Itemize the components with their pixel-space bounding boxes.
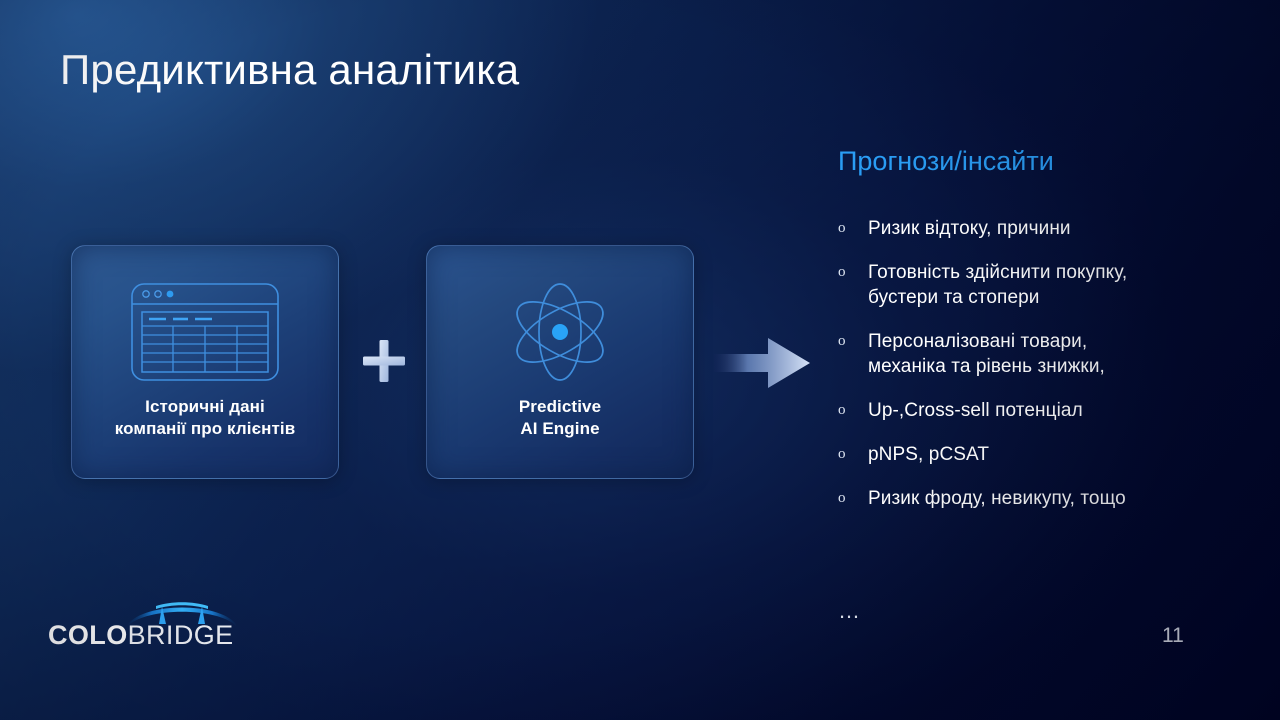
list-item: o Ризик фроду, невикупу, тощо	[838, 486, 1213, 511]
list-item: o Персоналізовані товари, механіка та рі…	[838, 329, 1213, 379]
card-predictive-ai-engine-caption: Predictive AI Engine	[509, 396, 611, 440]
list-item-text: Персоналізовані товари, механіка та ріве…	[868, 329, 1213, 379]
atom-icon	[501, 280, 619, 384]
page-title: Предиктивна аналітика	[60, 46, 519, 94]
card-predictive-ai-engine: Predictive AI Engine	[426, 245, 694, 479]
list-item-text: pNPS, pCSAT	[868, 442, 1213, 467]
list-item: o Up-,Cross-sell потенціал	[838, 398, 1213, 423]
bullet-marker-icon: o	[838, 260, 868, 285]
bullet-marker-icon: o	[838, 398, 868, 423]
colobridge-logo: COLOBRIDGE	[48, 596, 263, 654]
list-item: o pNPS, pCSAT	[838, 442, 1213, 467]
logo-word-bridge: BRIDGE	[128, 620, 234, 650]
card-historical-data: Історичні дані компанії про клієнтів	[71, 245, 339, 479]
list-item-text: Up-,Cross-sell потенціал	[868, 398, 1213, 423]
list-item-text: Ризик відтоку, причини	[868, 216, 1213, 241]
arrow-right-icon	[714, 336, 810, 390]
bullet-marker-icon: o	[838, 216, 868, 241]
logo-wordmark: COLOBRIDGE	[48, 620, 234, 651]
plus-icon	[355, 332, 413, 390]
list-item-text: Ризик фроду, невикупу, тощо	[868, 486, 1213, 511]
table-window-icon	[130, 280, 280, 384]
insights-continuation: …	[838, 598, 861, 624]
list-item: o Готовність здійснити покупку, бустери …	[838, 260, 1213, 310]
insights-bullet-list: o Ризик відтоку, причини o Готовність зд…	[838, 216, 1213, 530]
list-item-text: Готовність здійснити покупку, бустери та…	[868, 260, 1213, 310]
page-number: 11	[1162, 624, 1184, 648]
bullet-marker-icon: o	[838, 442, 868, 467]
insights-heading: Прогнози/інсайти	[838, 146, 1054, 177]
slide-canvas: Предиктивна аналітика	[0, 0, 1280, 720]
bullet-marker-icon: o	[838, 486, 868, 511]
bullet-marker-icon: o	[838, 329, 868, 354]
card-historical-data-caption: Історичні дані компанії про клієнтів	[105, 396, 306, 440]
list-item: o Ризик відтоку, причини	[838, 216, 1213, 241]
logo-word-colo: COLO	[48, 620, 128, 650]
